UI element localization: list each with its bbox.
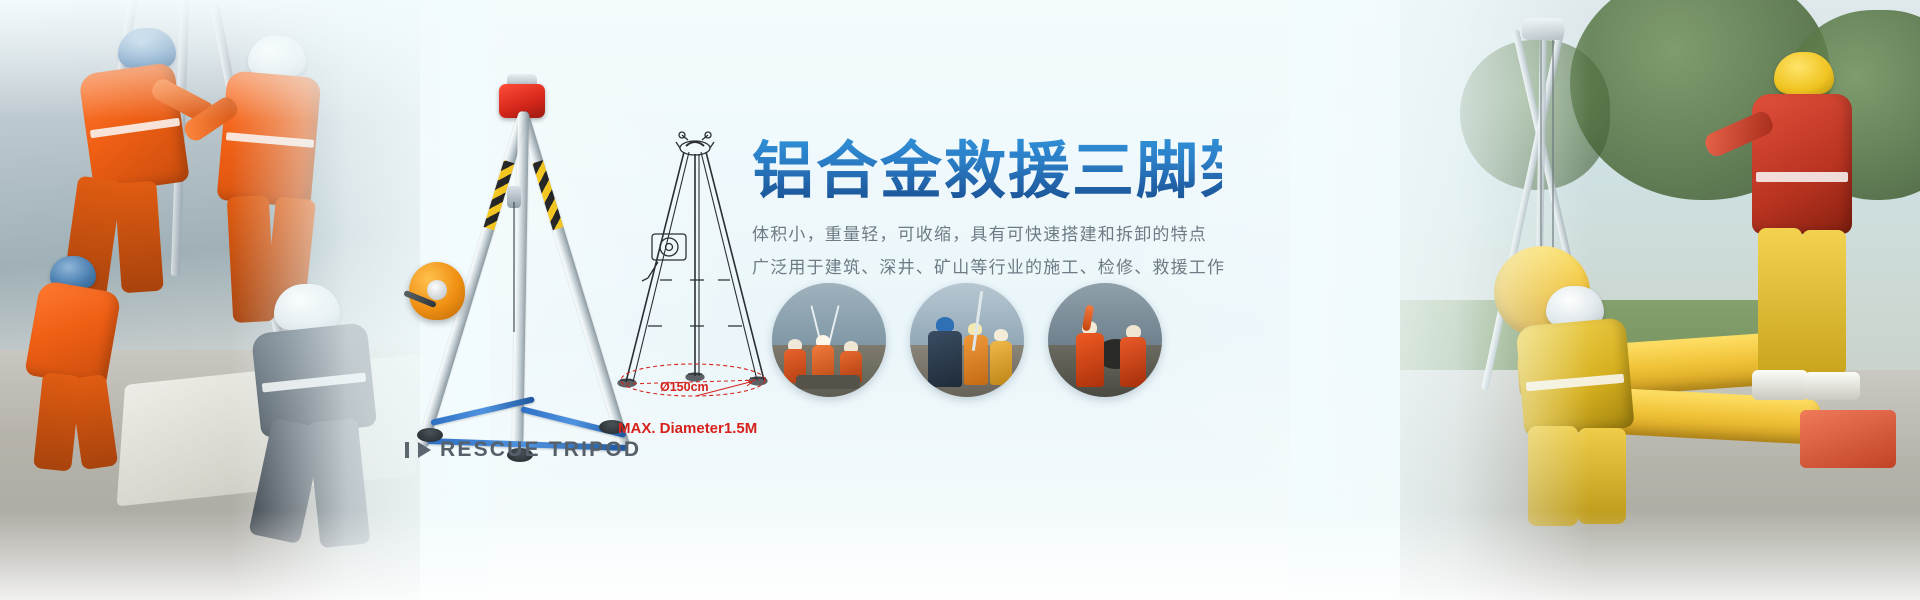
- left-rescue-scene-photo: [0, 0, 420, 600]
- tripod-winch-hub: [427, 280, 447, 300]
- product-caption-text: RESCUE TRIPOD: [440, 438, 641, 462]
- worker-head: [994, 329, 1008, 341]
- rescuer-leg: [1758, 228, 1802, 378]
- page-title: 铝合金救援三脚架: [752, 138, 1222, 203]
- left-photo-rescuer-d: [30, 250, 150, 500]
- helmet-icon: [1774, 52, 1834, 94]
- product-banner: RESCUE TRIPOD: [0, 0, 1920, 600]
- rescuer-boot: [1752, 370, 1808, 400]
- rescuer-leg: [1528, 426, 1578, 526]
- headline-block: 铝合金救援三脚架 体积小，重量轻，可收缩，具有可快速搭建和拆卸的特点 广泛用于建…: [752, 138, 1222, 285]
- right-photo-tripod-head: [1522, 18, 1564, 40]
- application-photo-gallery: [772, 283, 1162, 397]
- photo-equipment: [796, 375, 860, 389]
- right-photo-rope-2: [1552, 40, 1554, 250]
- rescuer-leg: [1802, 230, 1846, 376]
- worker-figure: [964, 335, 988, 385]
- subtitle-line-2: 广泛用于建筑、深井、矿山等行业的施工、检修、救援工作: [752, 252, 1222, 285]
- gallery-photo-inspection[interactable]: [910, 283, 1024, 397]
- diameter-annotation: Ø150cm: [660, 380, 709, 394]
- helmet-icon: [248, 36, 306, 76]
- gallery-photo-confined-space-rescue[interactable]: [1048, 283, 1162, 397]
- rescuer-leg: [1578, 428, 1626, 524]
- tripod-cable: [513, 202, 515, 332]
- right-photo-equipment-case: [1800, 410, 1896, 468]
- reflective-stripe: [1756, 172, 1848, 182]
- helmet-icon: [118, 28, 176, 68]
- rescuer-figure: [1076, 333, 1104, 387]
- helmet-icon: [274, 284, 340, 330]
- subtitle-line-1: 体积小，重量轻，可收缩，具有可快速搭建和拆卸的特点: [752, 219, 1222, 252]
- gallery-photo-worksite-crew[interactable]: [772, 283, 886, 397]
- worker-figure: [990, 341, 1012, 385]
- right-photo-rescuer-b: [1512, 286, 1692, 576]
- left-photo-rescuer-c: [240, 270, 410, 570]
- rescuer-boot: [1804, 372, 1860, 400]
- rescuer-leg: [308, 418, 371, 549]
- max-diameter-annotation: MAX. Diameter1.5M: [618, 420, 757, 437]
- product-caption: RESCUE TRIPOD: [405, 438, 641, 462]
- blue-helmet-head: [936, 317, 954, 332]
- right-photo-rescuer-a: [1700, 52, 1880, 452]
- right-photo-rope-1: [1540, 40, 1542, 270]
- right-rescue-scene-photo: [1400, 0, 1920, 600]
- play-triangle-icon: [418, 442, 431, 458]
- rescuer-leg: [70, 374, 118, 470]
- rescuer-torso: [24, 280, 121, 389]
- inspector-figure: [928, 331, 962, 387]
- play-bar-icon: [405, 442, 409, 458]
- rescuer-figure: [1120, 337, 1146, 387]
